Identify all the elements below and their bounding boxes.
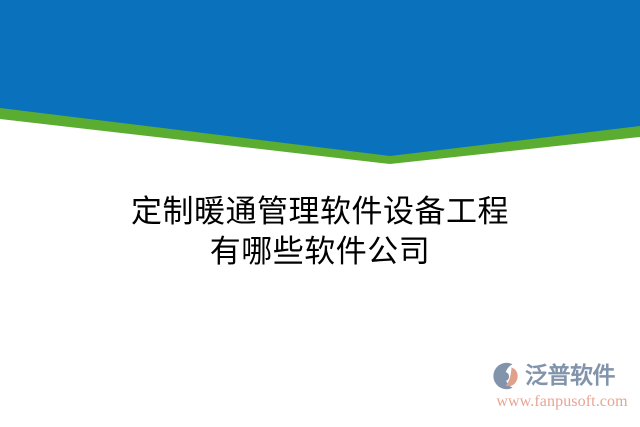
- header-green-band: [0, 0, 640, 164]
- header-chevron-banner: [0, 0, 640, 175]
- fanpu-swirl-logo-icon: [488, 360, 522, 392]
- title-line-2: 有哪些软件公司: [0, 232, 640, 272]
- watermark: 泛普软件 www.fanpusoft.com: [488, 357, 634, 419]
- page-title: 定制暖通管理软件设备工程 有哪些软件公司: [0, 192, 640, 273]
- watermark-brand-row: 泛普软件: [488, 359, 634, 393]
- watermark-url: www.fanpusoft.com: [490, 393, 634, 411]
- header-blue-chevron: [0, 0, 640, 156]
- slide-canvas: 定制暖通管理软件设备工程 有哪些软件公司 泛普软件 www.fanpusoft.…: [0, 0, 640, 427]
- watermark-brand-name: 泛普软件: [525, 365, 615, 388]
- title-line-1: 定制暖通管理软件设备工程: [0, 192, 640, 232]
